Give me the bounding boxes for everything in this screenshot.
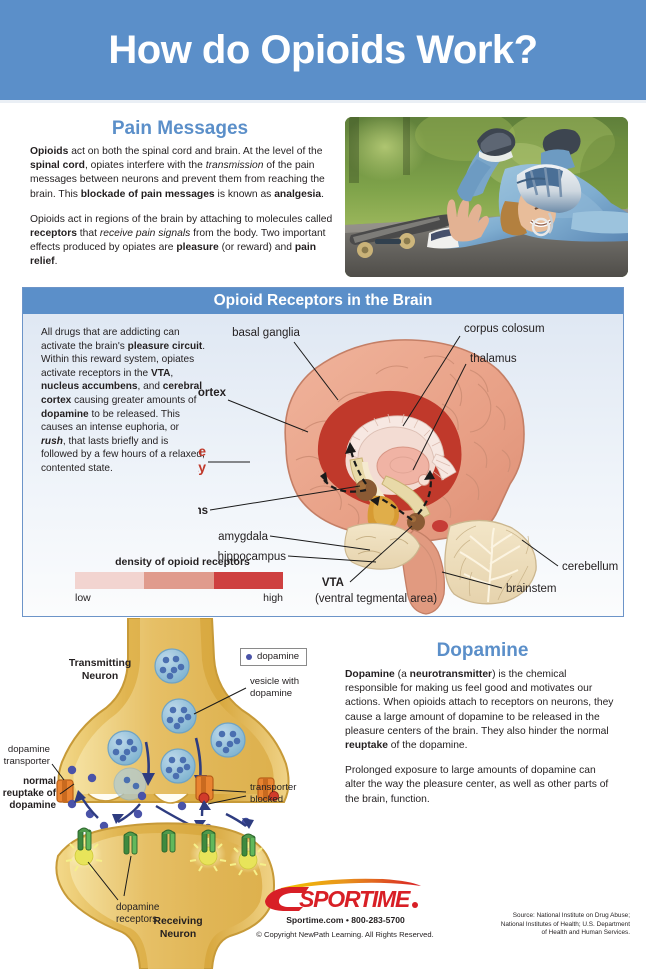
dopamine-paragraph-1: Dopamine (a neurotransmitter) is the che… xyxy=(345,668,617,753)
opioid-receptors-header: Opioid Receptors in the Brain xyxy=(23,288,623,314)
legend-low-label: low xyxy=(75,592,91,604)
label-amygdala: amygdala xyxy=(218,531,268,543)
dopamine-title: Dopamine xyxy=(345,640,620,662)
label-cerebellum: cerebellum xyxy=(562,561,618,573)
skateboard-fall-photo xyxy=(345,117,628,277)
dopamine-body: Dopamine (a neurotransmitter) is the che… xyxy=(345,668,617,818)
pain-paragraph-1: Opioids act on both the spinal cord and … xyxy=(30,145,335,202)
dopamine-paragraph-2: Prolonged exposure to large amounts of d… xyxy=(345,764,617,807)
brain-diagram: basal ganglia corpus colosum thalamus ce… xyxy=(198,314,623,616)
label-vesicle-1: vesicle with xyxy=(250,676,299,687)
sportime-wordmark: SPORTIME xyxy=(299,886,411,911)
label-thalamus: thalamus xyxy=(470,353,517,365)
label-pleasure-pathway-line2: Pathway xyxy=(198,459,206,475)
label-transmitting-neuron-1: Transmitting xyxy=(69,658,131,669)
label-hippocampus: hippocampus xyxy=(218,551,287,563)
label-normal-reuptake-1: normal xyxy=(23,776,56,787)
dopamine-transporter-blocked xyxy=(196,776,213,803)
label-vta-full: (ventral tegmental area) xyxy=(315,593,437,605)
dopamine-dot-icon xyxy=(246,654,252,660)
brain-panel-text: All drugs that are addicting can activat… xyxy=(41,326,206,476)
source-line-3: of Health and Human Services. xyxy=(420,929,630,938)
source-line-1: Source: National Institute on Drug Abuse… xyxy=(420,912,630,921)
legend-step-low xyxy=(75,572,144,589)
dopamine-key-label: dopamine xyxy=(257,651,299,662)
label-vta: VTA xyxy=(322,577,344,589)
pain-messages-title: Pain Messages xyxy=(25,118,335,140)
label-dopamine-transporter-1: dopamine xyxy=(8,744,50,755)
sportime-logo: SPORTIME xyxy=(263,877,423,911)
label-transporter-blocked-2: blocked xyxy=(250,794,283,805)
label-cerebral-cortex: cerebral cortex xyxy=(198,387,227,399)
pain-paragraph-2: Opioids act in regions of the brain by a… xyxy=(30,213,335,270)
pain-messages-body: Opioids act on both the spinal cord and … xyxy=(30,145,335,281)
label-basal-ganglia: basal ganglia xyxy=(232,327,300,339)
label-brainstem: brainstem xyxy=(506,583,557,595)
label-transmitting-neuron-2: Neuron xyxy=(82,671,118,682)
opioid-receptors-header-label: Opioid Receptors in the Brain xyxy=(214,292,433,310)
page-footer: SPORTIME Sportime.com • 800-283-5700 © C… xyxy=(0,872,646,969)
opioid-receptors-panel: Opioid Receptors in the Brain All drugs … xyxy=(22,287,624,617)
label-normal-reuptake-2: reuptake of xyxy=(3,788,57,799)
label-dopamine-transporter-2: transporter xyxy=(4,756,51,767)
page-title: How do Opioids Work? xyxy=(108,28,537,73)
label-transporter-blocked-1: transporter xyxy=(250,782,297,793)
label-vesicle-2: dopamine xyxy=(250,688,292,699)
footer-source: Source: National Institute on Drug Abuse… xyxy=(420,912,630,938)
page-header: How do Opioids Work? xyxy=(0,0,646,100)
label-nucleus-accumbens: nucleus accumbens xyxy=(198,505,208,517)
source-line-2: National Institutes of Health; U.S. Depa… xyxy=(420,921,630,930)
label-corpus-colosum: corpus colosum xyxy=(464,323,545,335)
label-pleasure-pathway-line1: Pleasure xyxy=(198,443,206,459)
label-normal-reuptake-3: dopamine xyxy=(9,800,56,811)
dopamine-legend-key: dopamine xyxy=(240,648,307,666)
